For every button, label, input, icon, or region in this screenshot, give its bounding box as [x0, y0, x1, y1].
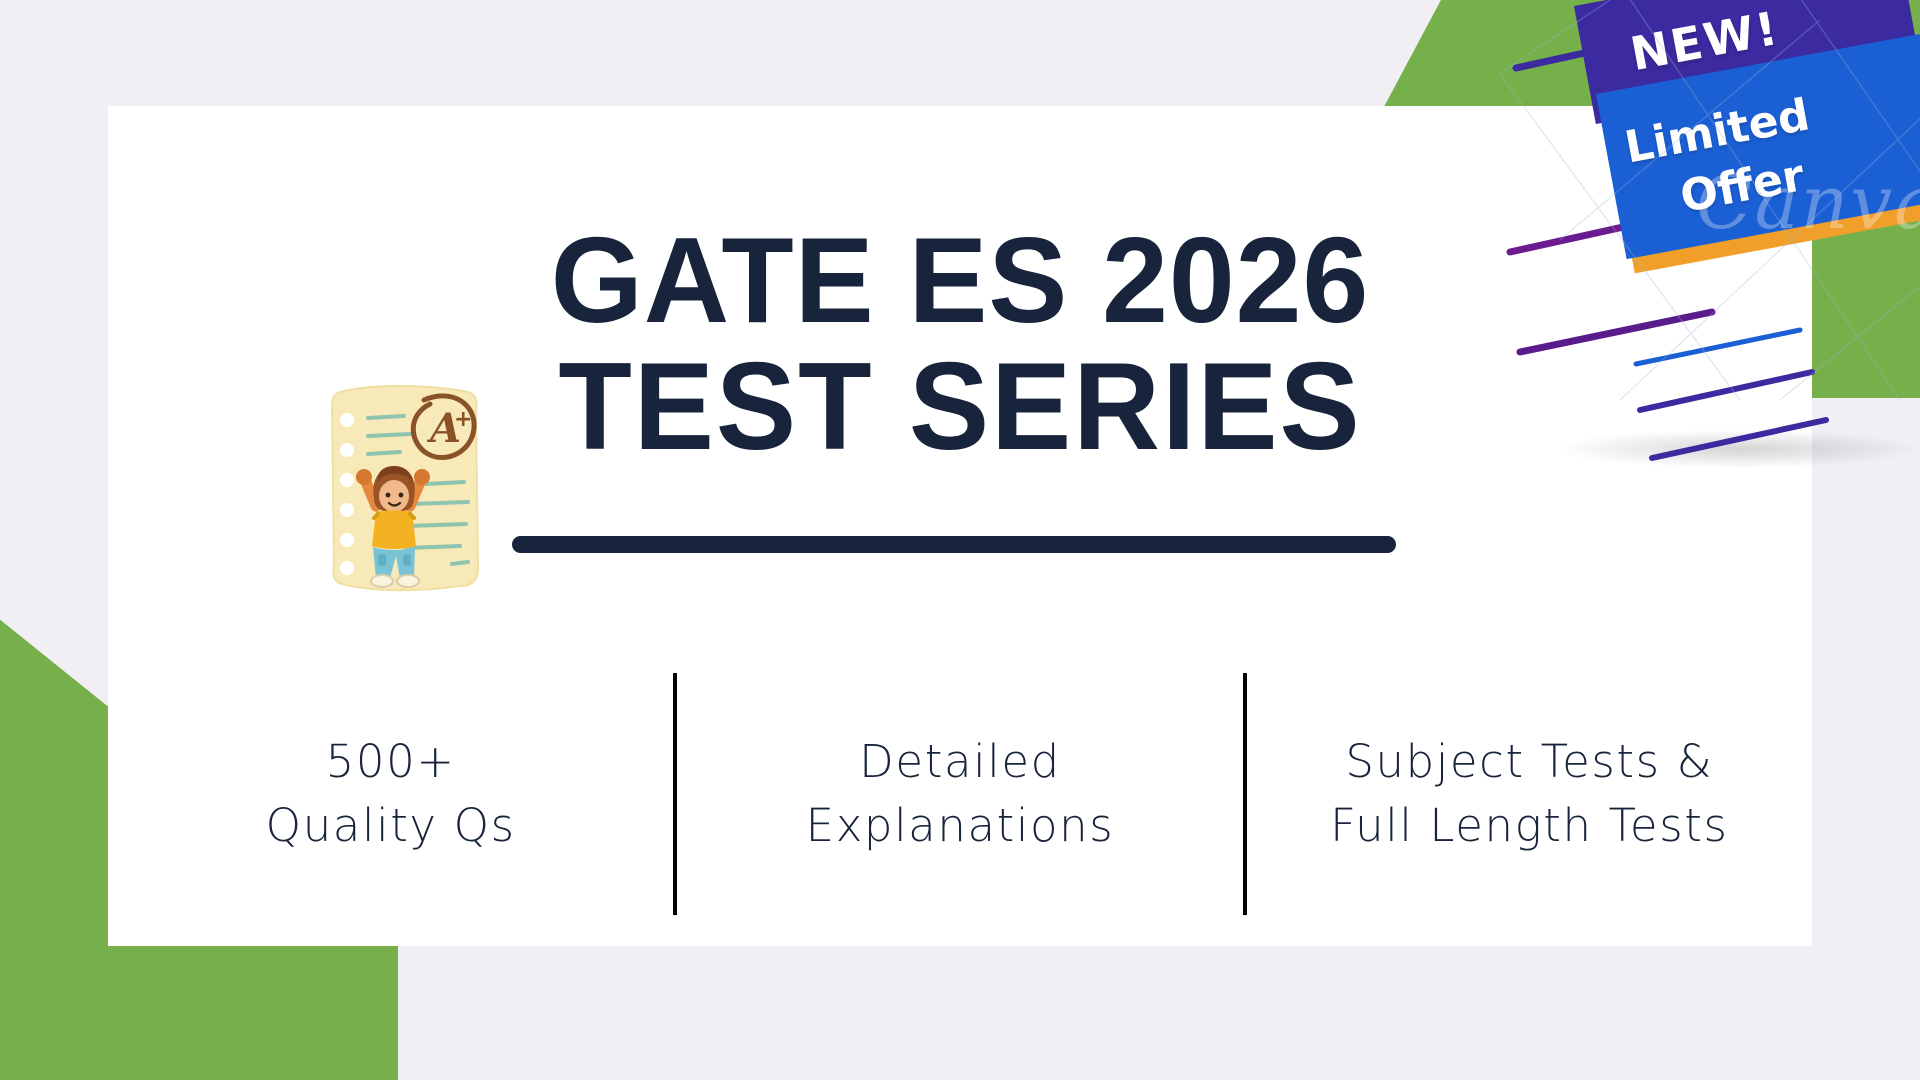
feature-item-2: Detailed Explanations: [677, 730, 1242, 858]
feature-3-line-2: Full Length Tests: [1247, 794, 1812, 858]
promo-banner-group[interactable]: NEW! Limited Offer: [1530, 0, 1920, 406]
feature-2-line-1: Detailed: [677, 730, 1242, 794]
promo-shadow: [1560, 430, 1920, 468]
feature-1-line-2: Quality Qs: [108, 794, 673, 858]
feature-1-line-1: 500+: [108, 730, 673, 794]
feature-row: 500+ Quality Qs Detailed Explanations Su…: [108, 666, 1812, 922]
feature-2-line-2: Explanations: [677, 794, 1242, 858]
title-underline-bar: [512, 536, 1396, 553]
svg-text:+: +: [454, 407, 472, 432]
feature-item-1: 500+ Quality Qs: [108, 730, 673, 858]
poster-canvas: GATE ES 2026 TEST SERIES: [0, 0, 1920, 1080]
feature-3-line-1: Subject Tests &: [1247, 730, 1812, 794]
student-aplus-icon: A +: [326, 378, 496, 600]
feature-item-3: Subject Tests & Full Length Tests: [1247, 730, 1812, 858]
